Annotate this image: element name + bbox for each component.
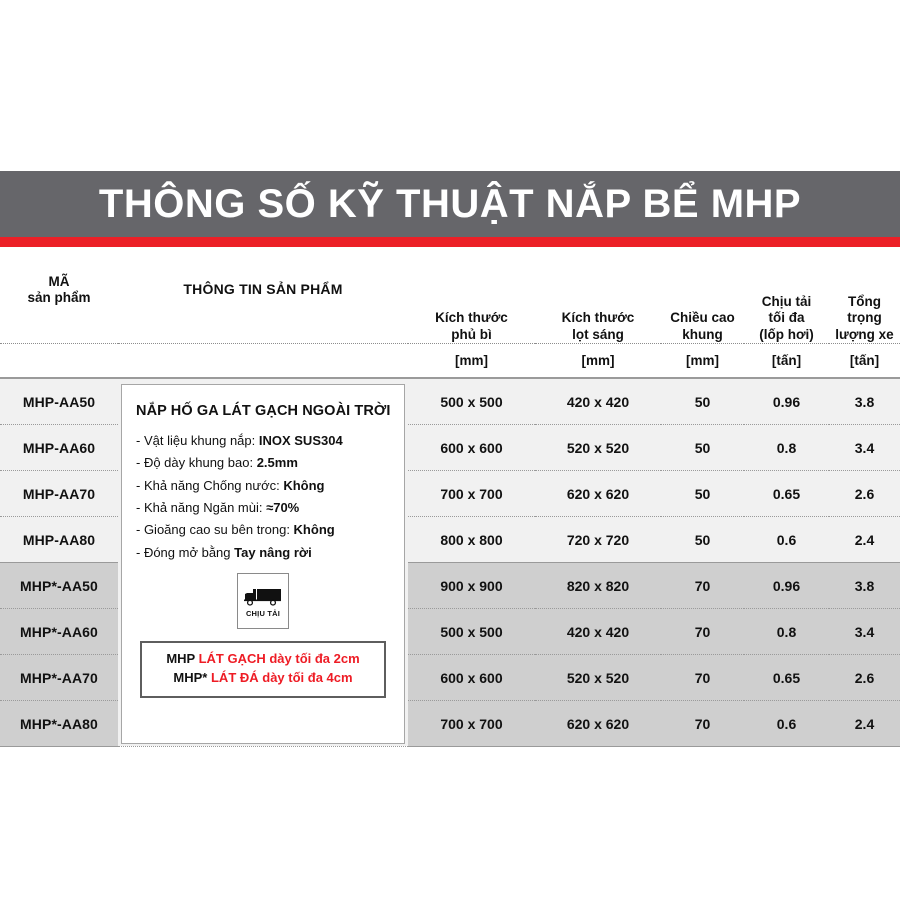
- cell-vehicle-weight: 3.8: [829, 378, 900, 425]
- header-vehicle-weight-line2: lượng xe: [829, 327, 900, 343]
- cell-product-code: MHP*-AA80: [0, 701, 118, 747]
- header-frame-height-line2: khung: [661, 327, 744, 343]
- cell-frame-height: 70: [661, 655, 744, 701]
- cell-vehicle-weight: 2.4: [829, 701, 900, 747]
- spec-table-wrap: MÃ sản phẩm THÔNG TIN SẢN PHẨM Kích thướ…: [0, 255, 900, 747]
- thickness-note-line-1: MHP LÁT GẠCH dày tối đa 2cm: [148, 650, 378, 669]
- spec-sheet-page: THÔNG SỐ KỸ THUẬT NẮP BỂ MHP MÃ sản phẩm…: [0, 0, 900, 900]
- info-spec-line: - Khả năng Chống nước: Không: [136, 475, 390, 497]
- cell-vehicle-weight: 2.6: [829, 655, 900, 701]
- header-size-inner: Kích thước lọt sáng: [535, 255, 661, 343]
- units-info-blank: [118, 344, 408, 379]
- units-code-blank: [0, 344, 118, 379]
- cell-size-outer: 900 x 900: [408, 563, 535, 609]
- header-vehicle-weight: Tổng trọng lượng xe: [829, 255, 900, 343]
- table-header-row: MÃ sản phẩm THÔNG TIN SẢN PHẨM Kích thướ…: [0, 255, 900, 343]
- cell-max-load: 0.65: [744, 471, 829, 517]
- cell-size-outer: 800 x 800: [408, 517, 535, 563]
- cell-frame-height: 70: [661, 563, 744, 609]
- cell-product-code: MHP-AA50: [0, 378, 118, 425]
- info-spec-line: - Khả năng Ngăn mùi: ≈70%: [136, 497, 390, 519]
- cell-size-outer: 600 x 600: [408, 655, 535, 701]
- cell-size-outer: 500 x 500: [408, 378, 535, 425]
- cell-frame-height: 50: [661, 471, 744, 517]
- cell-size-inner: 820 x 820: [535, 563, 661, 609]
- cell-max-load: 0.8: [744, 425, 829, 471]
- note-prefix-mhp: MHP: [166, 651, 198, 666]
- header-frame-height: Chiều cao khung: [661, 255, 744, 343]
- cell-vehicle-weight: 2.6: [829, 471, 900, 517]
- cell-vehicle-weight: 3.8: [829, 563, 900, 609]
- cell-frame-height: 70: [661, 701, 744, 747]
- page-title: THÔNG SỐ KỸ THUẬT NẮP BỂ MHP: [99, 184, 801, 224]
- thickness-note-line-2: MHP* LÁT ĐÁ dày tối đa 4cm: [148, 669, 378, 688]
- cell-size-inner: 620 x 620: [535, 701, 661, 747]
- info-spec-label: - Vật liệu khung nắp:: [136, 433, 259, 448]
- units-vehicle-weight: [tấn]: [829, 344, 900, 379]
- header-code-line2: sản phẩm: [0, 290, 118, 306]
- note-text-tile: LÁT GẠCH dày tối đa 2cm: [199, 651, 360, 666]
- header-size-outer-line2: phủ bì: [408, 327, 535, 343]
- cell-max-load: 0.6: [744, 701, 829, 747]
- product-info-panel: NẮP HỐ GA LÁT GẠCH NGOÀI TRỜI - Vật liệu…: [121, 384, 405, 744]
- units-frame-height: [mm]: [661, 344, 744, 379]
- info-spec-label: - Gioăng cao su bên trong:: [136, 522, 294, 537]
- info-spec-value: ≈70%: [266, 500, 299, 515]
- cell-product-code: MHP-AA60: [0, 425, 118, 471]
- header-load-line3: (lốp hơi): [744, 327, 829, 343]
- header-load-line2: tối đa: [744, 310, 829, 326]
- info-spec-value: 2.5mm: [257, 455, 298, 470]
- header-size-outer: Kích thước phủ bì: [408, 255, 535, 343]
- cell-max-load: 0.96: [744, 563, 829, 609]
- info-spec-label: - Khả năng Chống nước:: [136, 478, 283, 493]
- thickness-note-box: MHP LÁT GẠCH dày tối đa 2cm MHP* LÁT ĐÁ …: [140, 641, 386, 698]
- cell-max-load: 0.96: [744, 378, 829, 425]
- cell-size-inner: 420 x 420: [535, 378, 661, 425]
- info-spec-value: Không: [283, 478, 324, 493]
- units-size-outer: [mm]: [408, 344, 535, 379]
- cell-max-load: 0.65: [744, 655, 829, 701]
- cell-size-outer: 600 x 600: [408, 425, 535, 471]
- info-spec-line: - Đóng mở bằng Tay nâng rời: [136, 542, 390, 564]
- header-load-line1: Chịu tải: [744, 294, 829, 310]
- cell-vehicle-weight: 3.4: [829, 425, 900, 471]
- header-size-inner-line2: lọt sáng: [535, 327, 661, 343]
- info-spec-value: Tay nâng rời: [234, 545, 312, 560]
- info-spec-line: - Vật liệu khung nắp: INOX SUS304: [136, 430, 390, 452]
- cell-frame-height: 50: [661, 517, 744, 563]
- table-row: MHP-AA50 NẮP HỐ GA LÁT GẠCH NGOÀI TRỜI -…: [0, 378, 900, 425]
- cell-vehicle-weight: 3.4: [829, 609, 900, 655]
- cell-size-inner: 520 x 520: [535, 425, 661, 471]
- cell-product-code: MHP*-AA60: [0, 609, 118, 655]
- spec-table: MÃ sản phẩm THÔNG TIN SẢN PHẨM Kích thướ…: [0, 255, 900, 747]
- banner-red-rule: [0, 237, 900, 247]
- cell-size-inner: 720 x 720: [535, 517, 661, 563]
- header-size-inner-line1: Kích thước: [535, 310, 661, 326]
- info-panel-title: NẮP HỐ GA LÁT GẠCH NGOÀI TRỜI: [136, 403, 390, 419]
- cell-size-inner: 620 x 620: [535, 471, 661, 517]
- header-size-outer-line1: Kích thước: [408, 310, 535, 326]
- note-prefix-mhp-star: MHP*: [173, 670, 211, 685]
- info-spec-label: - Khả năng Ngăn mùi:: [136, 500, 266, 515]
- info-spec-label: - Độ dày khung bao:: [136, 455, 257, 470]
- title-banner: THÔNG SỐ KỸ THUẬT NẮP BỂ MHP: [0, 171, 900, 237]
- info-spec-value: INOX SUS304: [259, 433, 343, 448]
- cell-frame-height: 50: [661, 378, 744, 425]
- load-capacity-badge: CHỊU TẢI: [237, 573, 289, 629]
- cell-size-inner: 520 x 520: [535, 655, 661, 701]
- load-capacity-badge-label: CHỊU TẢI: [246, 609, 280, 618]
- product-info-cell: NẮP HỐ GA LÁT GẠCH NGOÀI TRỜI - Vật liệu…: [118, 378, 408, 747]
- cell-size-outer: 700 x 700: [408, 471, 535, 517]
- cell-max-load: 0.6: [744, 517, 829, 563]
- cell-size-outer: 700 x 700: [408, 701, 535, 747]
- cell-product-code: MHP-AA70: [0, 471, 118, 517]
- info-spec-value: Không: [294, 522, 335, 537]
- cell-size-outer: 500 x 500: [408, 609, 535, 655]
- info-spec-line: - Độ dày khung bao: 2.5mm: [136, 452, 390, 474]
- cell-vehicle-weight: 2.4: [829, 517, 900, 563]
- cell-frame-height: 70: [661, 609, 744, 655]
- cell-product-code: MHP*-AA50: [0, 563, 118, 609]
- units-max-load: [tấn]: [744, 344, 829, 379]
- header-product-code: MÃ sản phẩm: [0, 255, 118, 343]
- header-max-load: Chịu tải tối đa (lốp hơi): [744, 255, 829, 343]
- cell-product-code: MHP-AA80: [0, 517, 118, 563]
- units-size-inner: [mm]: [535, 344, 661, 379]
- cell-frame-height: 50: [661, 425, 744, 471]
- header-code-line1: MÃ: [0, 274, 118, 290]
- cell-size-inner: 420 x 420: [535, 609, 661, 655]
- table-units-row: [mm] [mm] [mm] [tấn] [tấn]: [0, 344, 900, 379]
- info-spec-line: - Gioăng cao su bên trong: Không: [136, 519, 390, 541]
- note-text-stone: LÁT ĐÁ dày tối đa 4cm: [211, 670, 353, 685]
- cell-max-load: 0.8: [744, 609, 829, 655]
- info-spec-label: - Đóng mở bằng: [136, 545, 234, 560]
- header-frame-height-line1: Chiều cao: [661, 310, 744, 326]
- truck-icon: [244, 587, 282, 606]
- cell-product-code: MHP*-AA70: [0, 655, 118, 701]
- header-vehicle-weight-line1: Tổng trọng: [829, 294, 900, 327]
- header-product-info: THÔNG TIN SẢN PHẨM: [118, 255, 408, 343]
